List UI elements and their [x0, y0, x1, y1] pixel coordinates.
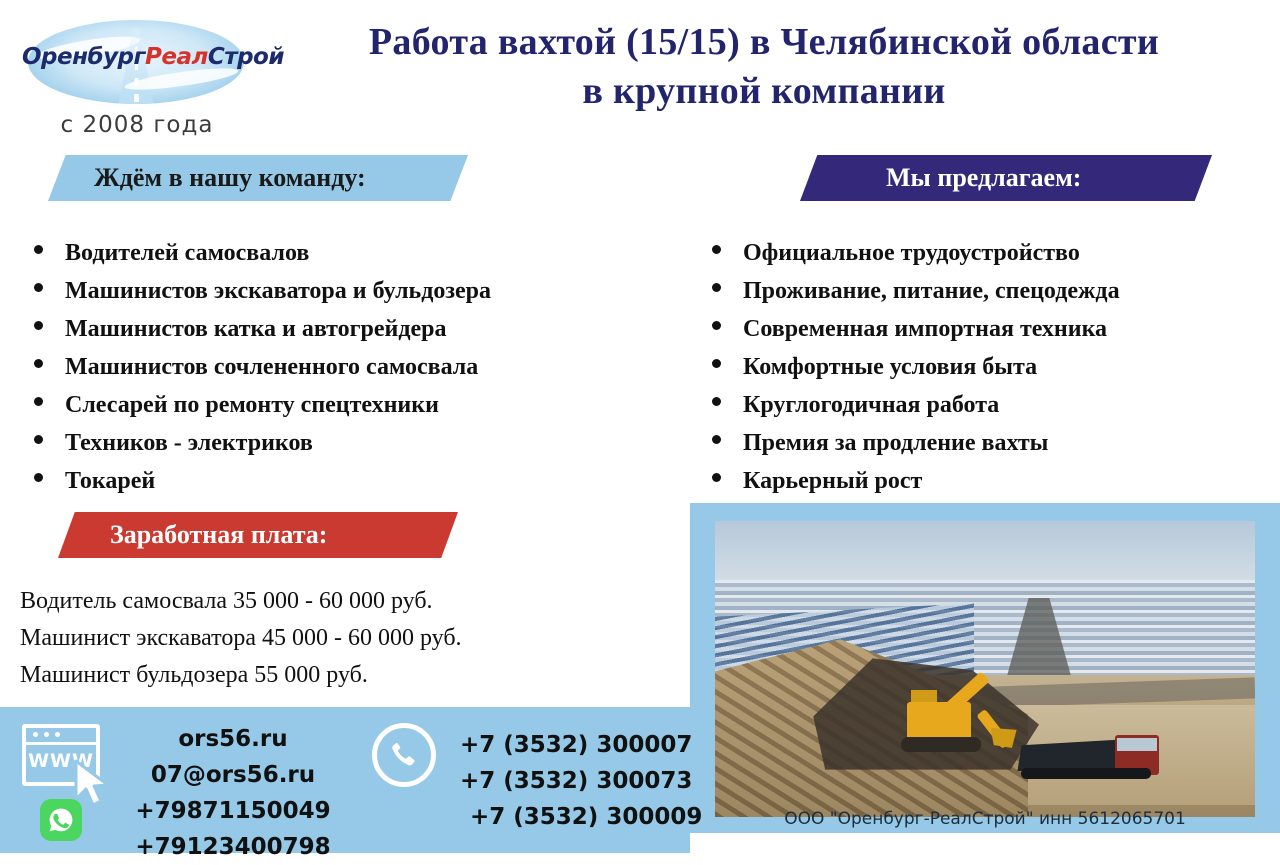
team-list: Водителей самосвалов Машинистов экскават… [34, 236, 491, 502]
contacts-column-primary: ors56.ru 07@ors56.ru +79871150049 +79123… [108, 721, 358, 865]
excavator-bucket [991, 728, 1017, 748]
bullet-dot-icon [712, 321, 721, 330]
list-item-label: Техников - электриков [65, 426, 313, 461]
bullet-dot-icon [712, 245, 721, 254]
salary-line: Машинист экскаватора 45 000 - 60 000 руб… [20, 620, 620, 657]
offer-list: Официальное трудоустройство Проживание, … [712, 236, 1120, 502]
photo-panel: ООО "Оренбург-РеалСтрой" инн 5612065701 [690, 503, 1280, 833]
list-item-label: Водителей самосвалов [65, 236, 309, 271]
list-item: Машинистов сочлененного самосвала [34, 350, 491, 385]
list-item: Машинистов экскаватора и бульдозера [34, 274, 491, 309]
bullet-dot-icon [34, 245, 43, 254]
excavator-body [907, 702, 971, 740]
offer-banner-label: Мы предлагаем: [886, 163, 1081, 193]
page-title-line-2: в крупной компании [256, 67, 1272, 116]
list-item: Машинистов катка и автогрейдера [34, 312, 491, 347]
bullet-dot-icon [712, 283, 721, 292]
salary-line: Водитель самосвала 35 000 - 60 000 руб. [20, 583, 620, 620]
logo-wordmark: ОренбургРеалСтрой [22, 46, 250, 69]
landline-phone-2[interactable]: +7 (3532) 300073 [460, 763, 700, 799]
bullet-dot-icon [712, 397, 721, 406]
company-logo: ОренбургРеалСтрой с 2008 года [22, 16, 252, 138]
salary-line: Машинист бульдозера 55 000 руб. [20, 657, 620, 694]
offer-banner: Мы предлагаем: [800, 155, 1212, 201]
browser-titlebar-icon [26, 728, 96, 745]
list-item: Комфортные условия быта [712, 350, 1120, 385]
excavator-track [901, 737, 981, 752]
page-title-line-1: Работа вахтой (15/15) в Челябинской обла… [256, 18, 1272, 67]
list-item-label: Машинистов экскаватора и бульдозера [65, 274, 491, 309]
list-item: Официальное трудоустройство [712, 236, 1120, 271]
bullet-dot-icon [34, 359, 43, 368]
list-item-label: Карьерный рост [743, 464, 922, 499]
salary-banner-label: Заработная плата: [110, 520, 327, 550]
list-item-label: Круглогодичная работа [743, 388, 999, 423]
browser-dot-icon [44, 732, 49, 737]
browser-dot-icon [55, 732, 60, 737]
list-item-label: Машинистов катка и автогрейдера [65, 312, 447, 347]
list-item-label: Слесарей по ремонту спецтехники [65, 388, 439, 423]
list-item-label: Премия за продление вахты [743, 426, 1048, 461]
list-item: Токарей [34, 464, 491, 499]
team-banner-label: Ждём в нашу команду: [94, 163, 366, 193]
dump-truck-wheels [1021, 768, 1151, 779]
bullet-dot-icon [34, 435, 43, 444]
mobile-phone-2[interactable]: +79123400798 [108, 829, 358, 865]
page-title: Работа вахтой (15/15) в Челябинской обла… [256, 18, 1272, 117]
dump-truck-window [1117, 738, 1157, 751]
salary-list: Водитель самосвала 35 000 - 60 000 руб. … [20, 583, 620, 694]
list-item: Современная импортная техника [712, 312, 1120, 347]
logo-since-text: с 2008 года [22, 112, 252, 138]
mobile-phone-1[interactable]: +79871150049 [108, 793, 358, 829]
list-item: Водителей самосвалов [34, 236, 491, 271]
landline-phone-1[interactable]: +7 (3532) 300007 [460, 727, 700, 763]
bullet-dot-icon [712, 435, 721, 444]
list-item-label: Официальное трудоустройство [743, 236, 1080, 271]
list-item: Премия за продление вахты [712, 426, 1120, 461]
dump-truck-bed [1017, 739, 1121, 771]
email-link[interactable]: 07@ors56.ru [108, 757, 358, 793]
team-banner: Ждём в нашу команду: [48, 155, 468, 201]
list-item: Слесарей по ремонту спецтехники [34, 388, 491, 423]
dump-truck-icon [1017, 725, 1165, 781]
bullet-dot-icon [34, 397, 43, 406]
list-item-label: Комфортные условия быта [743, 350, 1037, 385]
bullet-dot-icon [34, 321, 43, 330]
bullet-dot-icon [34, 473, 43, 482]
list-item: Техников - электриков [34, 426, 491, 461]
bullet-dot-icon [712, 359, 721, 368]
salary-banner: Заработная плата: [58, 512, 458, 558]
whatsapp-icon[interactable] [40, 799, 82, 841]
browser-dot-icon [33, 732, 38, 737]
list-item: Круглогодичная работа [712, 388, 1120, 423]
company-legal-caption: ООО "Оренбург-РеалСтрой" инн 5612065701 [690, 809, 1280, 829]
contacts-column-landline: +7 (3532) 300007 +7 (3532) 300073 +7 (35… [460, 727, 700, 835]
logo-word-real: Реал [145, 44, 208, 70]
poster-header: ОренбургРеалСтрой с 2008 года Работа вах… [0, 0, 1280, 140]
landline-phone-3[interactable]: +7 (3532) 300009 [460, 799, 700, 835]
excavator-icon [899, 660, 1029, 752]
list-item-label: Проживание, питание, спецодежда [743, 274, 1120, 309]
list-item-label: Современная импортная техника [743, 312, 1107, 347]
list-item-label: Машинистов сочлененного самосвала [65, 350, 478, 385]
list-item: Проживание, питание, спецодежда [712, 274, 1120, 309]
bullet-dot-icon [712, 473, 721, 482]
list-item: Карьерный рост [712, 464, 1120, 499]
bullet-dot-icon [34, 283, 43, 292]
logo-word-orenburg: Оренбург [22, 44, 145, 70]
phone-icon [372, 723, 436, 787]
quarry-photo [715, 521, 1255, 817]
website-link[interactable]: ors56.ru [108, 721, 358, 757]
list-item-label: Токарей [65, 464, 155, 499]
